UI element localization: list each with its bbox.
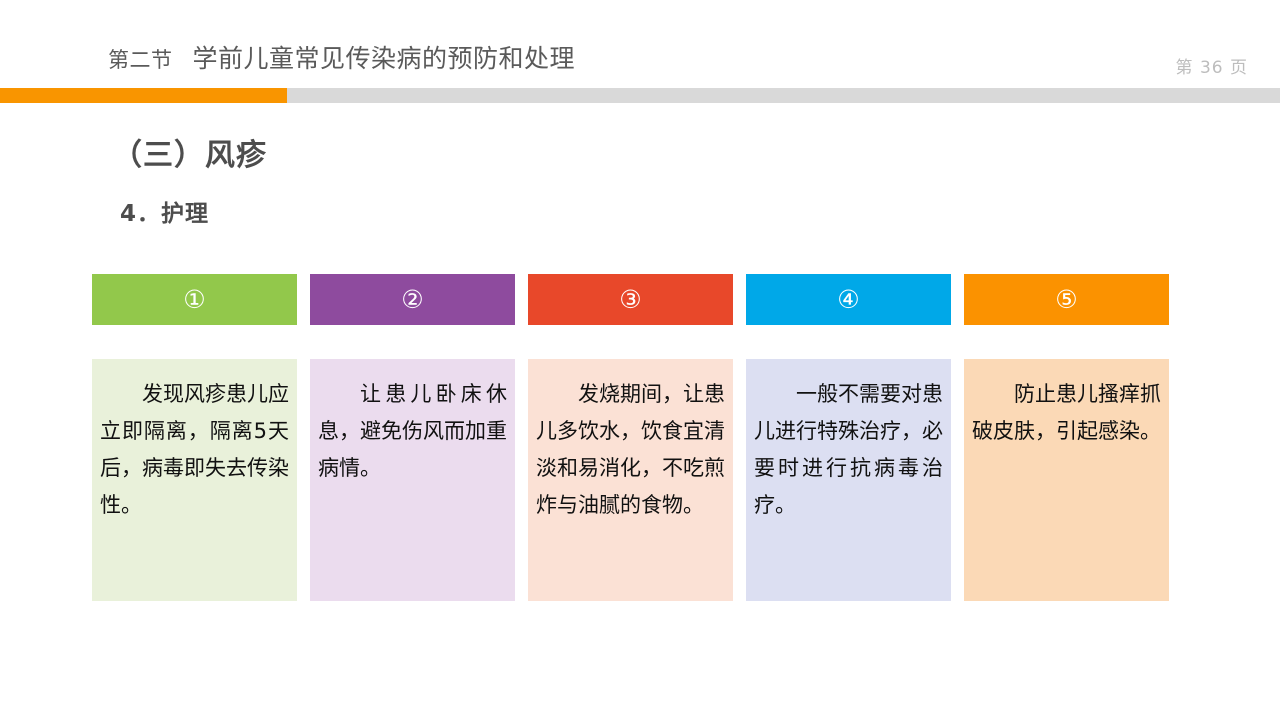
card-header-3: ③ xyxy=(528,274,733,325)
card-gap-1 xyxy=(92,325,297,359)
page-title: 学前儿童常见传染病的预防和处理 xyxy=(193,39,576,75)
card-gap-2 xyxy=(310,325,515,359)
card-header-4: ④ xyxy=(746,274,951,325)
card-gap-5 xyxy=(964,325,1169,359)
slide-header: 第二节 学前儿童常见传染病的预防和处理 第 36 页 xyxy=(0,0,1280,104)
card-gap-3 xyxy=(528,325,733,359)
header-accent-bar xyxy=(0,88,287,103)
card-body-text-3: 发烧期间，让患儿多饮水，饮食宜清淡和易消化，不吃煎炸与油腻的食物。 xyxy=(528,359,733,601)
card-number-badge-1: ① xyxy=(183,287,205,312)
care-step-card: ① 发现风疹患儿应立即隔离，隔离5天后，病毒即失去传染性。 xyxy=(92,274,297,601)
care-steps-card-list: ① 发现风疹患儿应立即隔离，隔离5天后，病毒即失去传染性。 ② 让患儿卧床休息，… xyxy=(92,274,1170,601)
care-step-card: ④ 一般不需要对患儿进行特殊治疗，必要时进行抗病毒治疗。 xyxy=(746,274,951,601)
card-number-badge-5: ⑤ xyxy=(1055,287,1077,312)
care-step-card: ② 让患儿卧床休息，避免伤风而加重病情。 xyxy=(310,274,515,601)
card-number-badge-3: ③ xyxy=(619,287,641,312)
card-header-1: ① xyxy=(92,274,297,325)
header-divider-rule xyxy=(0,88,1280,103)
card-header-2: ② xyxy=(310,274,515,325)
header-section-label: 第二节 xyxy=(108,44,173,74)
card-gap-4 xyxy=(746,325,951,359)
card-body-text-4: 一般不需要对患儿进行特殊治疗，必要时进行抗病毒治疗。 xyxy=(746,359,951,601)
card-header-5: ⑤ xyxy=(964,274,1169,325)
card-body-text-2: 让患儿卧床休息，避免伤风而加重病情。 xyxy=(310,359,515,601)
sub-section-title: 4．护理 xyxy=(120,194,209,228)
card-body-text-5: 防止患儿搔痒抓破皮肤，引起感染。 xyxy=(964,359,1169,601)
card-body-text-1: 发现风疹患儿应立即隔离，隔离5天后，病毒即失去传染性。 xyxy=(92,359,297,601)
page-number: 第 36 页 xyxy=(1176,53,1248,78)
header-title-row: 第二节 学前儿童常见传染病的预防和处理 xyxy=(108,39,575,75)
care-step-card: ③ 发烧期间，让患儿多饮水，饮食宜清淡和易消化，不吃煎炸与油腻的食物。 xyxy=(528,274,733,601)
section-title: （三）风疹 xyxy=(112,130,267,174)
card-number-badge-2: ② xyxy=(401,287,423,312)
care-step-card: ⑤ 防止患儿搔痒抓破皮肤，引起感染。 xyxy=(964,274,1169,601)
card-number-badge-4: ④ xyxy=(837,287,859,312)
